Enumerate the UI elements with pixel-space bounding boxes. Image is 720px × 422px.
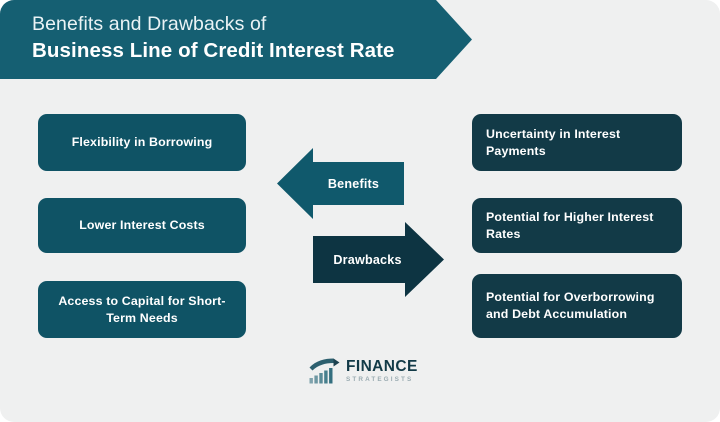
benefit-box-1: Flexibility in Borrowing	[38, 114, 246, 171]
drawback-box-3: Potential for Overborrowing and Debt Acc…	[472, 274, 682, 338]
logo-secondary-text: STRATEGISTS	[346, 375, 418, 384]
benefit-box-3: Access to Capital for Short-Term Needs	[38, 281, 246, 338]
brand-logo: FINANCE STRATEGISTS	[308, 357, 418, 385]
header-subtitle: Benefits and Drawbacks of	[32, 11, 432, 37]
left-arrow-benefits: Benefits	[277, 148, 404, 219]
chart-swoosh-icon	[308, 357, 341, 385]
benefit-box-1-label: Flexibility in Borrowing	[50, 134, 234, 151]
benefit-box-3-label: Access to Capital for Short-Term Needs	[50, 293, 234, 327]
header-title-group: Benefits and Drawbacks of Business Line …	[32, 11, 432, 65]
drawbacks-arrow-label: Drawbacks	[333, 253, 423, 267]
drawback-box-1: Uncertainty in Interest Payments	[472, 114, 682, 171]
benefits-arrow-label: Benefits	[302, 177, 379, 191]
logo-primary-text: FINANCE	[346, 359, 418, 375]
infographic-canvas: Benefits and Drawbacks of Business Line …	[0, 0, 720, 422]
logo-wordmark: FINANCE STRATEGISTS	[346, 359, 418, 384]
right-arrow-drawbacks: Drawbacks	[313, 222, 444, 297]
drawback-box-2-label: Potential for Higher Interest Rates	[486, 209, 668, 243]
page-title: Business Line of Credit Interest Rate	[32, 37, 432, 65]
benefit-box-2-label: Lower Interest Costs	[50, 217, 234, 234]
drawback-box-1-label: Uncertainty in Interest Payments	[486, 126, 668, 160]
benefit-box-2: Lower Interest Costs	[38, 198, 246, 253]
drawback-box-3-label: Potential for Overborrowing and Debt Acc…	[486, 289, 668, 323]
drawback-box-2: Potential for Higher Interest Rates	[472, 198, 682, 253]
